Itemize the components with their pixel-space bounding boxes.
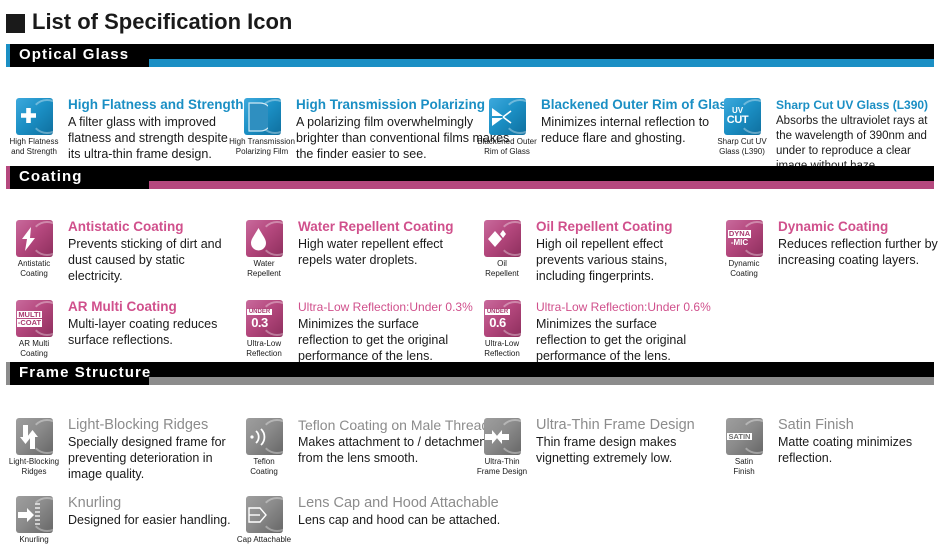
spec-title: Light-Blocking Ridges [68,417,232,433]
page-title: List of Specification Icon [0,0,940,38]
spec-icon-column: Light-BlockingRidges [2,417,66,476]
spec-icon-caption: DynamicCoating [711,259,777,278]
spec-item: High Flatnessand Strength High Flatness … [2,97,232,162]
water-droplet-icon [246,220,283,257]
spec-text-column: Teflon Coating on Male Threads Makes att… [296,417,496,466]
section-header-optical-glass: Optical Glass [6,44,934,67]
spec-text-column: Sharp Cut UV Glass (L390) Absorbs the ul… [774,97,940,174]
spec-icon-caption: WaterRepellent [231,259,297,278]
spec-icon-caption: OilRepellent [469,259,535,278]
spec-text-column: Blackened Outer Rim of Glass Minimizes i… [539,97,735,146]
uv-cut-icon: UV CUT [724,98,761,135]
spec-item: OilRepellent Oil Repellent Coating High … [470,219,708,284]
spec-item: High TransmissionPolarizing Film High Tr… [230,97,475,162]
satin-glyph: SATIN [727,418,753,455]
spec-icon-column: UNDER 0.6 Ultra-LowReflection [470,299,534,358]
spec-item: WaterRepellent Water Repellent Coating H… [232,219,460,278]
spec-item: Ultra-ThinFrame Design Ultra-Thin Frame … [470,417,708,476]
spec-icon-column: Ultra-ThinFrame Design [470,417,534,476]
spec-text-column: Ultra-Low Reflection:Under 0.3% Minimize… [296,299,473,364]
rim-reflection-icon [489,98,526,135]
spec-title: Blackened Outer Rim of Glass [541,97,735,113]
spec-icon-column: AntistaticCoating [2,219,66,278]
spec-title: Ultra-Low Reflection:Under 0.3% [298,299,473,315]
spec-text-column: Dynamic Coating Reduces reflection furth… [776,219,938,268]
lightning-glyph [16,220,42,257]
spec-text-column: Knurling Designed for easier handling. [66,495,231,528]
spec-description: Designed for easier handling. [68,512,231,528]
section-coating: Coating AntistaticCoating Antistatic Coa… [0,166,940,364]
under-03-icon: UNDER 0.3 [246,300,283,337]
droplet-glyph [246,220,272,257]
spec-item: DYNA -MIC DynamicCoating Dynamic Coating… [712,219,938,278]
spec-icon-caption: High Flatnessand Strength [1,137,67,156]
page-title-text: List of Specification Icon [32,11,292,33]
under-06-glyph-bottom: 0.6 [489,316,506,329]
spec-title: Ultra-Low Reflection:Under 0.6% [536,299,711,315]
spec-description: Matte coating minimizes reflection. [778,434,938,466]
spec-icon-column: DYNA -MIC DynamicCoating [712,219,776,278]
filled-square-icon [6,14,25,33]
multi-coat-glyph-top: MULTI [17,311,41,319]
spec-icon-column: OilRepellent [470,219,534,278]
multi-coat-icon: MULTI -COAT [16,300,53,337]
spec-title: Antistatic Coating [68,219,232,235]
section-optical-glass: Optical Glass High Flatnessand Strength … [0,44,940,152]
spec-icon-caption: Ultra-ThinFrame Design [469,457,535,476]
lightning-bolt-icon [16,220,53,257]
spec-text-column: Oil Repellent Coating High oil repellent… [534,219,708,284]
spec-item: Blackened OuterRim of Glass Blackened Ou… [475,97,710,156]
spec-text-column: Water Repellent Coating High water repel… [296,219,460,268]
spec-title: AR Multi Coating [68,299,232,315]
spec-description: Prevents sticking of dirt and dust cause… [68,236,232,284]
spec-icon-caption: High TransmissionPolarizing Film [229,137,295,156]
spec-title: Sharp Cut UV Glass (L390) [776,97,940,113]
spec-icon-column: WaterRepellent [232,219,296,278]
spec-icon-caption: Blackened OuterRim of Glass [474,137,540,156]
knurling-glyph [16,496,42,533]
under-03-glyph-top: UNDER [247,309,272,315]
section-header-edge [6,44,10,67]
under-03-glyph-bottom: 0.3 [251,316,268,329]
under-06-icon: UNDER 0.6 [484,300,521,337]
satin-icon: SATIN [726,418,763,455]
dynamic-glyph-bottom: -MIC [731,239,748,247]
uv-cut-glyph-bottom: CUT [727,115,748,126]
section-header-label: Frame Structure [19,364,151,381]
spec-icon-column: High Flatnessand Strength [2,97,66,156]
spec-icon-caption: TeflonCoating [231,457,297,476]
knurling-icon [16,496,53,533]
spec-description: Absorbs the ultraviolet rays at the wave… [776,114,940,174]
spec-item: UNDER 0.6 Ultra-LowReflection Ultra-Low … [470,299,708,364]
oil-droplet-icon [484,220,521,257]
section-accent-stripe [86,377,934,385]
spec-description: Minimizes the surface reflection to get … [298,316,473,364]
spec-icon-column: Blackened OuterRim of Glass [475,97,539,156]
spec-text-column: High Flatness and Strength A filter glas… [66,97,244,162]
spec-description: Reduces reflection further by increasing… [778,236,938,268]
section-header-label: Optical Glass [19,46,129,63]
cap-hood-glyph [246,496,272,533]
spec-item: MULTI -COAT AR MultiCoating AR Multi Coa… [2,299,232,358]
spec-icon-caption: SatinFinish [711,457,777,476]
spec-icon-column: TeflonCoating [232,417,296,476]
spec-title: Lens Cap and Hood Attachable [298,495,500,511]
spec-item: Cap Attachable Lens Cap and Hood Attacha… [232,495,562,545]
rim-arrows-glyph [489,98,515,135]
spec-icon-caption: AR MultiCoating [1,339,67,358]
spec-icon-column: Knurling [2,495,66,545]
multi-coat-glyph-bottom: -COAT [17,319,42,327]
spec-description: High oil repellent effect prevents vario… [536,236,708,284]
spec-icon-column: UV CUT Sharp Cut UVGlass (L390) [710,97,774,156]
spec-item: TeflonCoating Teflon Coating on Male Thr… [232,417,460,476]
spec-title: Ultra-Thin Frame Design [536,417,708,433]
spec-text-column: Satin Finish Matte coating minimizes ref… [776,417,938,466]
spec-item: AntistaticCoating Antistatic Coating Pre… [2,219,232,284]
spec-description: Thin frame design makes vignetting extre… [536,434,708,466]
spec-title: High Flatness and Strength [68,97,244,113]
oil-diamond-glyph [484,220,510,257]
under-06-glyph-top: UNDER [485,309,510,315]
dynamic-glyph: DYNA -MIC [727,220,753,257]
spec-description: Specially designed frame for preventing … [68,434,232,482]
plus-lens-icon [16,98,53,135]
section-accent-stripe [86,59,934,67]
spec-title: Satin Finish [778,417,938,433]
waves-glyph [246,418,272,455]
uv-cut-glyph: UV CUT [725,98,751,135]
spec-icon-caption: Knurling [1,535,67,545]
dynamic-coating-icon: DYNA -MIC [726,220,763,257]
spec-text-column: AR Multi Coating Multi-layer coating red… [66,299,232,348]
spec-item: UV CUT Sharp Cut UVGlass (L390) Sharp Cu… [710,97,940,174]
spec-icon-column: High TransmissionPolarizing Film [230,97,294,156]
spec-text-column: Lens Cap and Hood Attachable Lens cap an… [296,495,500,528]
solid-lens-glyph [244,98,270,135]
spec-text-column: Ultra-Thin Frame Design Thin frame desig… [534,417,708,466]
inward-arrows-glyph [484,418,510,455]
spec-icon-column: SATIN SatinFinish [712,417,776,476]
under-03-glyph: UNDER 0.3 [247,300,273,337]
spec-title: Dynamic Coating [778,219,938,235]
spec-title: Oil Repellent Coating [536,219,708,235]
section-frame-structure: Frame Structure Light-BlockingRidges Lig… [0,362,940,553]
cap-hood-icon [246,496,283,533]
spec-icon-column: Cap Attachable [232,495,296,545]
spec-item: SATIN SatinFinish Satin Finish Matte coa… [712,417,938,476]
section-header-edge [6,166,10,189]
spec-icon-caption: Ultra-LowReflection [231,339,297,358]
inward-arrows-icon [484,418,521,455]
section-header-label: Coating [19,168,83,185]
spec-description: Lens cap and hood can be attached. [298,512,500,528]
solid-lens-icon [244,98,281,135]
spec-description: A filter glass with improved flatness an… [68,114,244,162]
spec-text-column: Antistatic Coating Prevents sticking of … [66,219,232,284]
satin-glyph-top: SATIN [727,433,753,441]
spec-description: Minimizes internal reflection to reduce … [541,114,735,146]
arrows-glyph [16,418,42,455]
spec-icon-caption: Sharp Cut UVGlass (L390) [709,137,775,156]
spec-description: Makes attachment to / detachment from th… [298,434,496,466]
section-header-frame-structure: Frame Structure [6,362,934,385]
multi-coat-glyph: MULTI -COAT [17,300,43,337]
spec-icon-column: UNDER 0.3 Ultra-LowReflection [232,299,296,358]
section-header-edge [6,362,10,385]
spec-item: UNDER 0.3 Ultra-LowReflection Ultra-Low … [232,299,460,364]
spec-item: Light-BlockingRidges Light-Blocking Ridg… [2,417,232,482]
spec-text-column: Light-Blocking Ridges Specially designed… [66,417,232,482]
spec-icon-column: MULTI -COAT AR MultiCoating [2,299,66,358]
spec-icon-caption: AntistaticCoating [1,259,67,278]
section-header-coating: Coating [6,166,934,189]
spec-description: Minimizes the surface reflection to get … [536,316,711,364]
spec-icon-caption: Ultra-LowReflection [469,339,535,358]
section-accent-stripe [86,181,934,189]
thread-waves-icon [246,418,283,455]
spec-title: Teflon Coating on Male Threads [298,417,496,433]
dynamic-glyph-top: DYNA [728,230,751,238]
up-down-arrows-icon [16,418,53,455]
spec-title: Knurling [68,495,231,511]
spec-icon-caption: Light-BlockingRidges [1,457,67,476]
under-06-glyph: UNDER 0.6 [485,300,511,337]
spec-item: Knurling Knurling Designed for easier ha… [2,495,232,545]
spec-description: Multi-layer coating reduces surface refl… [68,316,232,348]
spec-icon-caption: Cap Attachable [231,535,297,545]
spec-description: High water repellent effect repels water… [298,236,460,268]
plus-glyph [16,98,42,135]
spec-title: Water Repellent Coating [298,219,460,235]
spec-text-column: Ultra-Low Reflection:Under 0.6% Minimize… [534,299,711,364]
